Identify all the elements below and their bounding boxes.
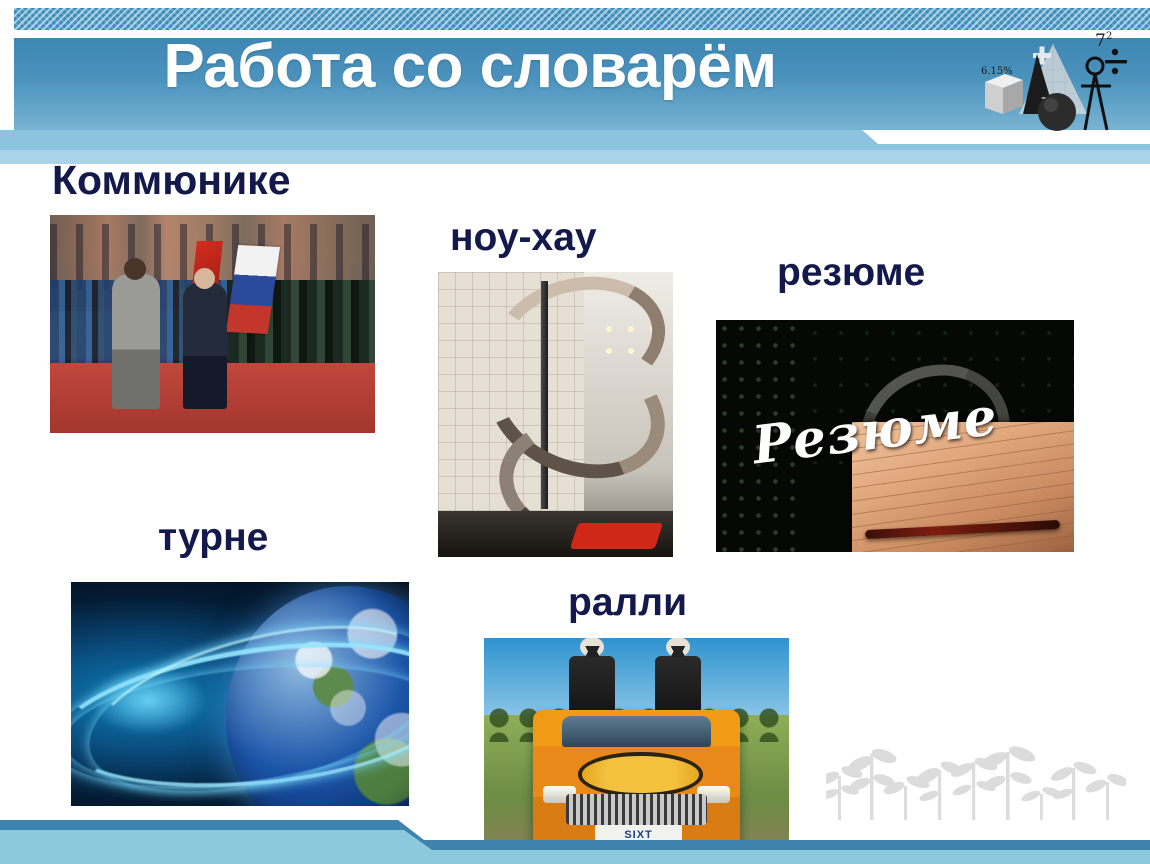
minus-label: - [1041, 90, 1046, 106]
front-grille [566, 794, 707, 825]
driver-celebrating-left [569, 656, 615, 715]
word-image-knowhow [438, 272, 673, 557]
word-image-tour [71, 582, 409, 806]
sprout-plants-decoration [826, 742, 1126, 820]
top-hatch-decoration-bar [14, 8, 1150, 30]
person-dark-suit [183, 283, 227, 409]
person-grey-suit [112, 274, 160, 409]
percent-label: 6.15% [981, 66, 1013, 77]
dakar-logo [578, 752, 702, 796]
word-label-communique: Коммюнике [52, 160, 291, 201]
word-label-resume: резюме [777, 253, 925, 292]
windshield [562, 716, 711, 747]
license-plate: SIXT [595, 825, 682, 842]
word-label-tour: турне [158, 518, 268, 557]
rally-truck: SIXT [533, 710, 740, 850]
slide: Работа со словарём [0, 0, 1150, 864]
exponent-superscript-label: 2 [1106, 31, 1112, 42]
word-image-rally: SIXT [484, 638, 789, 864]
word-label-knowhow: ноу-хау [450, 218, 597, 257]
driver-celebrating-right [655, 656, 701, 715]
red-mat [570, 523, 663, 549]
divide-sign-icon [1105, 49, 1127, 74]
compass-divider-icon [1081, 58, 1111, 130]
exponent-base-label: 7 [1095, 31, 1106, 51]
math-tools-clipart: 7 2 6.15% - [975, 30, 1135, 142]
cube-icon [985, 74, 1023, 114]
page-title: Работа со словарём [0, 36, 940, 98]
word-image-resume: Резюме [716, 320, 1074, 552]
word-image-communique [50, 215, 375, 433]
word-label-rally: ралли [568, 583, 687, 622]
